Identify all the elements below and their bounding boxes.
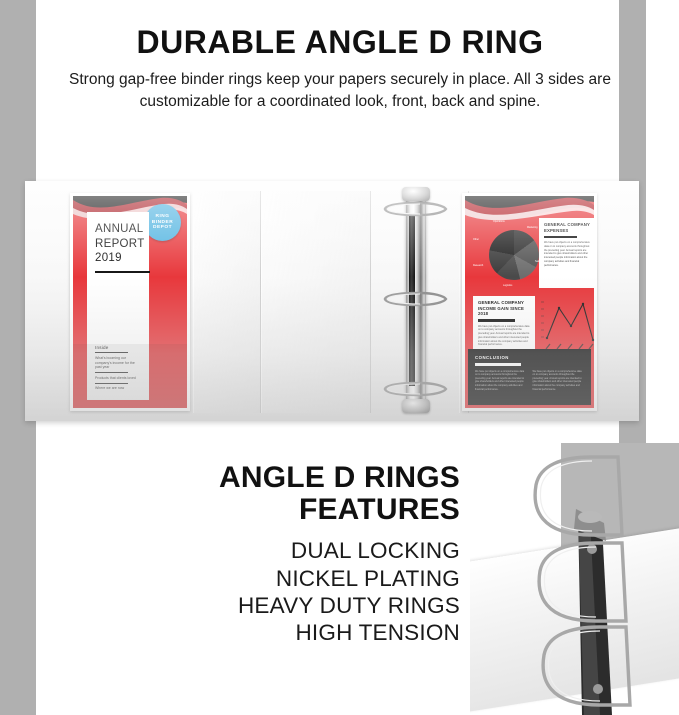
closeup-rings-graphic (470, 443, 679, 715)
features-heading-line-1: ANGLE D RINGS (40, 463, 460, 494)
pie-label: Operations (493, 220, 505, 223)
right-report-page: Operations Marketing Salaries Logistics … (462, 193, 597, 411)
page-subtitle: Strong gap-free binder rings keep your p… (60, 69, 620, 113)
report-title-line-2: REPORT (95, 237, 141, 252)
income-box-underline (478, 319, 515, 321)
right-page-red-background: Operations Marketing Salaries Logistics … (465, 196, 594, 408)
d-ring-icon (382, 381, 450, 397)
features-list: DUAL LOCKING NICKEL PLATING HEAVY DUTY R… (40, 537, 460, 647)
header-block: DURABLE ANGLE D RING Strong gap-free bin… (60, 26, 620, 113)
list-item: Products that clients loved (95, 376, 141, 381)
badge-line-3: DEPOT (153, 225, 172, 231)
inside-label: Inside (95, 345, 141, 350)
pie-label: Logistics (503, 284, 512, 287)
left-page-red-background: RING BINDER DEPOT ANNUAL REPORT 2019 Ins… (73, 196, 187, 408)
list-item: DUAL LOCKING (40, 537, 460, 564)
expenses-box-body: We have put objects on a comprehensive d… (544, 241, 590, 267)
open-binder-photo: RING BINDER DEPOT ANNUAL REPORT 2019 Ins… (25, 181, 639, 421)
clear-overlay-sheet (261, 191, 371, 413)
inside-contents-list: Inside What's booming our company's inco… (95, 345, 141, 392)
inside-divider (95, 352, 128, 353)
pie-chart-graphic (489, 230, 539, 280)
expenses-box-title: GENERAL COMPANY EXPENSES (544, 222, 590, 233)
report-title-line-3: 2019 (95, 251, 141, 266)
features-heading-line-2: FEATURES (40, 494, 460, 526)
pie-label: Research (473, 264, 483, 267)
d-ring-icon (382, 201, 450, 217)
ring-lock-bottom (402, 399, 430, 413)
income-box-body: We have put objects on a comprehensive d… (478, 325, 530, 348)
pie-label: Marketing (527, 226, 538, 229)
pie-label: Other (473, 238, 479, 241)
product-marketing-image: DURABLE ANGLE D RING Strong gap-free bin… (0, 0, 679, 715)
features-block: ANGLE D RINGS FEATURES DUAL LOCKING NICK… (40, 463, 460, 647)
conclusion-column-2: We have put objects on a comprehensive d… (533, 370, 585, 392)
ring-lock-top (402, 187, 430, 201)
conclusion-underline (475, 363, 521, 366)
page-title: DURABLE ANGLE D RING (60, 26, 620, 60)
ring-closeup-photo (470, 443, 679, 715)
conclusion-panel: CONCLUSION We have put objects on a comp… (468, 349, 591, 405)
ring-binder-depot-badge: RING BINDER DEPOT (144, 204, 181, 241)
conclusion-title: CONCLUSION (475, 355, 584, 360)
income-line-chart (539, 296, 597, 352)
d-ring-icon (382, 291, 450, 307)
list-item: NICKEL PLATING (40, 565, 460, 592)
list-item: HIGH TENSION (40, 619, 460, 646)
expenses-text-box: GENERAL COMPANY EXPENSES We have put obj… (539, 218, 595, 288)
annual-report-card: ANNUAL REPORT 2019 Inside What's booming… (87, 212, 149, 400)
report-title-line-1: ANNUAL (95, 222, 141, 237)
inside-divider (95, 383, 128, 384)
list-item: What's booming our company's income for … (95, 356, 141, 370)
left-report-page: RING BINDER DEPOT ANNUAL REPORT 2019 Ins… (70, 193, 190, 411)
income-box-title: GENERAL COMPANY INCOME GAIN SINCE 2018 (478, 300, 530, 317)
title-underline (95, 271, 150, 273)
list-item: Where we are now (95, 386, 141, 391)
binder-ring-mechanism (372, 185, 462, 417)
expenses-box-underline (544, 236, 577, 238)
inside-divider (95, 372, 128, 373)
clear-overlay-sheet (193, 191, 261, 413)
list-item: HEAVY DUTY RINGS (40, 592, 460, 619)
conclusion-column-1: We have put objects on a comprehensive d… (475, 370, 527, 392)
